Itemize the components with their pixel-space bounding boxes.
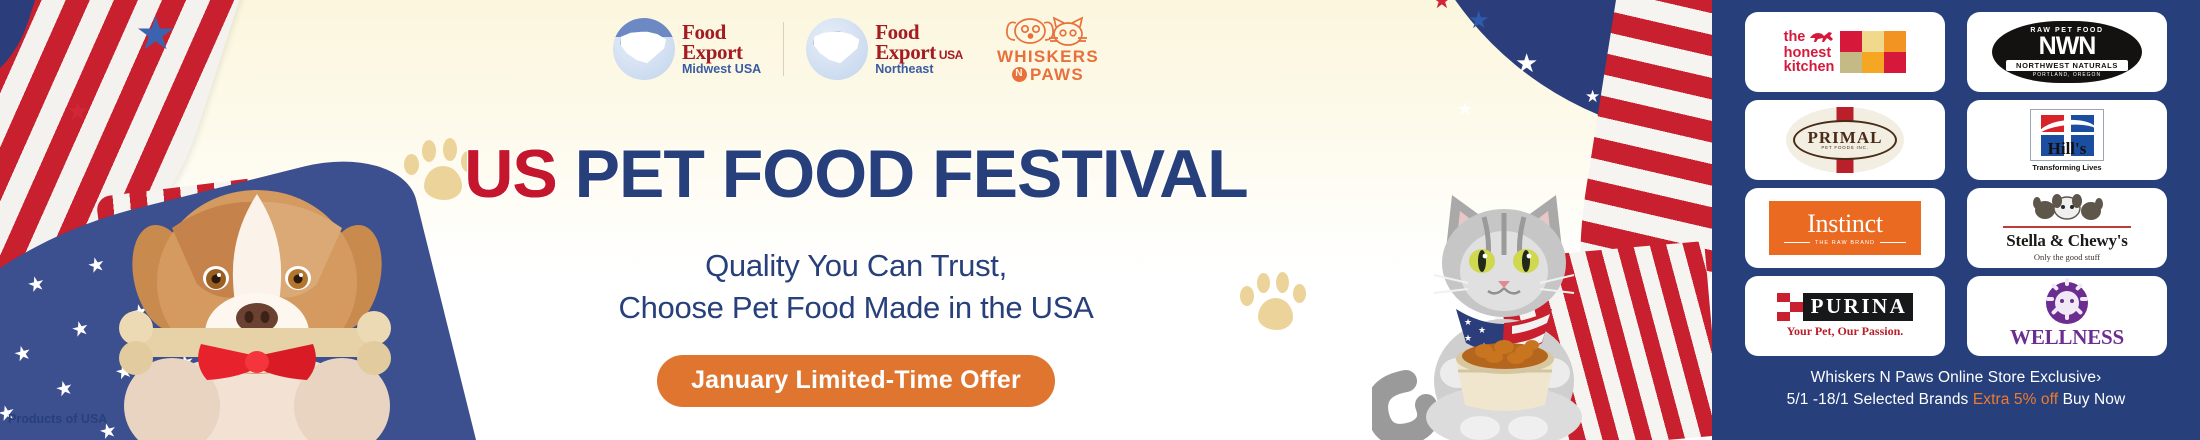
fe-northeast-usa: USA <box>939 50 963 62</box>
cat-with-food-bowl-photo: ★★ ★★ <box>1372 185 1672 440</box>
instinct-tagline: THE RAW BRAND <box>1815 240 1875 246</box>
brand-logo-grid: the honest kitchen <box>1745 12 2167 356</box>
red-star-small-decor: ★ <box>1432 0 1452 14</box>
brand-card-the-honest-kitchen[interactable]: the honest kitchen <box>1745 12 1945 92</box>
brand-card-primal[interactable]: PRIMAL PET FOODS INC. <box>1745 100 1945 180</box>
sidebar-promo-text: Whiskers N Paws Online Store Exclusive› … <box>1787 367 2126 411</box>
usa-globe-icon <box>613 18 675 80</box>
products-of-usa-label: Products of USA <box>8 412 107 426</box>
fe-midwest-line2: Export <box>682 42 743 62</box>
purina-checkerboard-icon <box>1777 293 1803 321</box>
purina-tagline: Your Pet, Our Passion. <box>1777 324 1914 339</box>
thk-line1: the <box>1784 30 1806 45</box>
brand-card-stella-and-chewys[interactable]: Stella & Chewy's Only the good stuff <box>1967 188 2167 268</box>
svg-text:★: ★ <box>1464 333 1472 343</box>
fe-midwest-line3: Midwest USA <box>682 63 761 75</box>
hills-emblem-icon: Hill's <box>2030 109 2104 161</box>
thk-line3: kitchen <box>1784 60 1837 75</box>
brand-card-northwest-naturals[interactable]: RAW PET FOOD NWN NORTHWEST NATURALS PORT… <box>1967 12 2167 92</box>
wnp-line2: PAWS <box>1030 66 1084 84</box>
promo-line-1: Whiskers N Paws Online Store Exclusive› <box>1787 367 2126 389</box>
dog-cat-outline-icon <box>997 14 1099 48</box>
brand-card-wellness[interactable]: WELLNESS <box>1967 276 2167 356</box>
purina-wordmark: PURINA <box>1803 293 1914 321</box>
hills-tagline: Transforming Lives <box>2030 163 2104 172</box>
brand-card-hills[interactable]: Hill's Transforming Lives <box>1967 100 2167 180</box>
stella-tagline: Only the good stuff <box>2003 252 2131 262</box>
primal-sub-text: PET FOODS INC. <box>1821 146 1868 151</box>
fe-midwest-line1: Food <box>682 22 761 42</box>
january-limited-time-offer-button[interactable]: January Limited-Time Offer <box>657 355 1055 407</box>
wellness-wordmark: WELLNESS <box>2010 325 2124 350</box>
thk-line2: honest <box>1784 46 1837 61</box>
sun-face-icon <box>2046 282 2088 324</box>
banner-main-panel: ★ ★ ★ ★ ★ ★ ★ ★ ★ ★ ★ ★ ★ ★ ★ ★ ★ ★ ★ ★ … <box>0 0 1712 440</box>
dog-with-bone-photo <box>112 170 402 440</box>
stella-wordmark: Stella & Chewy's <box>2003 231 2131 251</box>
instinct-wordmark: Instinct <box>1807 211 1883 237</box>
nwn-sub-text: PORTLAND, OREGON <box>2033 72 2101 78</box>
partner-logo-row: Food Export Midwest USA Food Export USA <box>0 14 1712 83</box>
food-export-midwest-logo[interactable]: Food Export Midwest USA <box>613 18 761 80</box>
fe-northeast-line2: Export <box>875 42 936 62</box>
nwn-ribbon-text: NORTHWEST NATURALS <box>2006 60 2128 71</box>
running-dog-icon <box>1808 29 1836 46</box>
food-export-northeast-logo[interactable]: Food Export USA Northeast <box>806 18 963 80</box>
fe-northeast-line1: Food <box>875 22 963 42</box>
brand-card-instinct[interactable]: Instinct THE RAW BRAND <box>1745 188 1945 268</box>
wnp-line1: WHISKERS <box>997 48 1099 66</box>
wnp-n-badge: N <box>1012 67 1027 82</box>
buy-now-link[interactable]: Buy Now <box>2058 391 2125 408</box>
three-dogs-icon <box>2003 194 2131 224</box>
brand-sidebar: the honest kitchen <box>1712 0 2200 440</box>
usa-globe-icon <box>806 18 868 80</box>
whiskers-n-paws-logo[interactable]: WHISKERS N PAWS <box>997 14 1099 83</box>
brand-card-purina[interactable]: PURINA Your Pet, Our Passion. <box>1745 276 1945 356</box>
promo-prefix: 5/1 -18/1 Selected Brands <box>1787 391 1973 408</box>
promo-line-2: 5/1 -18/1 Selected Brands Extra 5% off B… <box>1787 389 2126 411</box>
promo-discount-highlight: Extra 5% off <box>1973 391 2058 408</box>
nwn-monogram: NWN <box>2039 34 2096 59</box>
thk-color-swatch-icon <box>1840 31 1906 73</box>
hills-wordmark: Hill's <box>2031 139 2103 159</box>
headline-rest: PET FOOD FESTIVAL <box>557 136 1248 212</box>
logo-divider <box>783 22 784 76</box>
red-star-decor: ★ <box>66 96 89 127</box>
svg-text:★: ★ <box>1478 325 1486 335</box>
pet-food-festival-banner: ★ ★ ★ ★ ★ ★ ★ ★ ★ ★ ★ ★ ★ ★ ★ ★ ★ ★ ★ ★ … <box>0 0 2200 440</box>
svg-text:★: ★ <box>1464 317 1472 327</box>
fe-northeast-line3: Northeast <box>875 63 963 75</box>
primal-wordmark: PRIMAL <box>1808 129 1883 146</box>
headline-us: US <box>464 136 556 212</box>
